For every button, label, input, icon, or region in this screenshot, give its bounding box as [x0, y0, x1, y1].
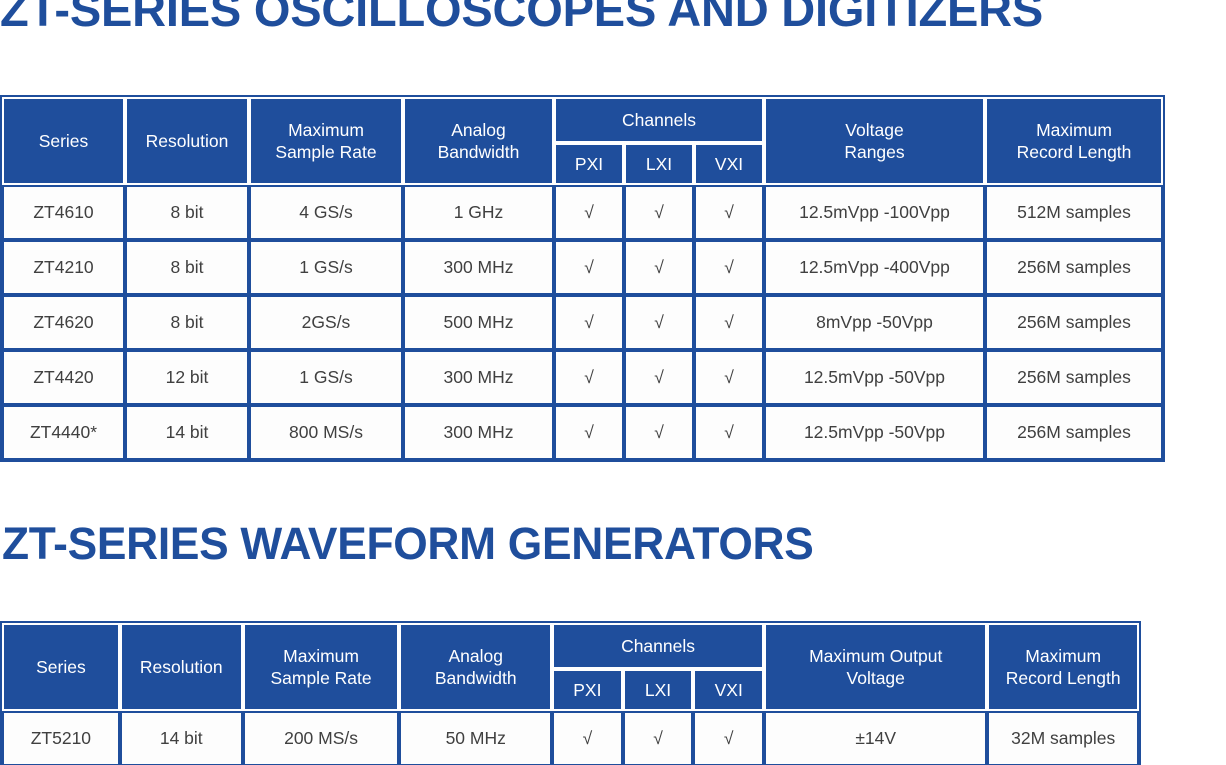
- cell-record-length: 256M samples: [985, 240, 1163, 295]
- cell-voltage-range: 12.5mVpp -400Vpp: [764, 240, 985, 295]
- cell-series: ZT4610: [2, 185, 125, 240]
- col-header-record-length: Maximum Record Length: [985, 97, 1163, 185]
- col-header-record-length: Maximum Record Length: [987, 623, 1139, 711]
- cell-sample-rate: 800 MS/s: [249, 405, 403, 460]
- col-header-sample-rate-line2: Sample Rate: [270, 668, 371, 688]
- cell-channel-lxi: √: [624, 405, 694, 460]
- cell-channel-lxi: √: [624, 295, 694, 350]
- cell-voltage-range: 12.5mVpp -50Vpp: [764, 405, 985, 460]
- cell-series: ZT4620: [2, 295, 125, 350]
- col-header-bandwidth: Analog Bandwidth: [403, 97, 554, 185]
- cell-channel-vxi: √: [694, 350, 764, 405]
- cell-series: ZT5210: [2, 711, 120, 765]
- table-body: ZT4610 8 bit 4 GS/s 1 GHz √ √ √ 12.5mVpp…: [2, 185, 1163, 460]
- col-header-channel-lxi: LXI: [623, 669, 694, 711]
- cell-channel-lxi: √: [624, 350, 694, 405]
- table-row: ZT4610 8 bit 4 GS/s 1 GHz √ √ √ 12.5mVpp…: [2, 185, 1163, 240]
- col-header-bandwidth-line1: Analog: [448, 646, 503, 666]
- cell-max-output-voltage: ±14V: [764, 711, 987, 765]
- cell-bandwidth: 300 MHz: [403, 240, 554, 295]
- col-header-voltage-ranges: Voltage Ranges: [764, 97, 985, 185]
- col-header-sample-rate: Maximum Sample Rate: [249, 97, 403, 185]
- table-row: ZT4420 12 bit 1 GS/s 300 MHz √ √ √ 12.5m…: [2, 350, 1163, 405]
- col-header-record-line1: Maximum: [1025, 646, 1101, 666]
- cell-channel-pxi: √: [554, 350, 624, 405]
- cell-voltage-range: 12.5mVpp -50Vpp: [764, 350, 985, 405]
- cell-channel-pxi: √: [554, 295, 624, 350]
- cell-resolution: 12 bit: [125, 350, 249, 405]
- cell-record-length: 512M samples: [985, 185, 1163, 240]
- cell-resolution: 8 bit: [125, 295, 249, 350]
- col-header-channel-vxi: VXI: [694, 143, 764, 185]
- waveform-generators-spec-table: Series Resolution Maximum Sample Rate An…: [0, 621, 1141, 765]
- col-header-record-line1: Maximum: [1036, 120, 1112, 140]
- cell-resolution: 14 bit: [125, 405, 249, 460]
- table-row: ZT4440* 14 bit 800 MS/s 300 MHz √ √ √ 12…: [2, 405, 1163, 460]
- col-header-channel-pxi: PXI: [552, 669, 623, 711]
- cell-sample-rate: 1 GS/s: [249, 350, 403, 405]
- cell-channel-pxi: √: [554, 185, 624, 240]
- cell-record-length: 32M samples: [987, 711, 1139, 765]
- cell-channel-lxi: √: [623, 711, 694, 765]
- col-header-sample-rate-line2: Sample Rate: [275, 142, 376, 162]
- cell-channel-vxi: √: [694, 295, 764, 350]
- cell-voltage-range: 12.5mVpp -100Vpp: [764, 185, 985, 240]
- table-body: ZT5210 14 bit 200 MS/s 50 MHz √ √ √ ±14V…: [2, 711, 1139, 765]
- cell-series: ZT4440*: [2, 405, 125, 460]
- col-header-sample-rate: Maximum Sample Rate: [243, 623, 400, 711]
- section-title-oscilloscopes: ZT-SERIES OSCILLOSCOPES AND DIGITIZERS: [0, 0, 1043, 33]
- col-header-channel-pxi: PXI: [554, 143, 624, 185]
- cell-record-length: 256M samples: [985, 405, 1163, 460]
- header-row-primary: Series Resolution Maximum Sample Rate An…: [2, 623, 1139, 669]
- col-header-series: Series: [2, 97, 125, 185]
- table-header: Series Resolution Maximum Sample Rate An…: [2, 623, 1139, 711]
- table-header: Series Resolution Maximum Sample Rate An…: [2, 97, 1163, 185]
- cell-series: ZT4420: [2, 350, 125, 405]
- header-row-primary: Series Resolution Maximum Sample Rate An…: [2, 97, 1163, 143]
- col-header-bandwidth-line1: Analog: [451, 120, 506, 140]
- cell-voltage-range: 8mVpp -50Vpp: [764, 295, 985, 350]
- cell-channel-pxi: √: [554, 405, 624, 460]
- cell-bandwidth: 300 MHz: [403, 405, 554, 460]
- cell-sample-rate: 1 GS/s: [249, 240, 403, 295]
- col-header-sample-rate-line1: Maximum: [288, 120, 364, 140]
- cell-record-length: 256M samples: [985, 350, 1163, 405]
- col-header-channel-lxi: LXI: [624, 143, 694, 185]
- cell-channel-lxi: √: [624, 240, 694, 295]
- oscilloscopes-spec-table: Series Resolution Maximum Sample Rate An…: [0, 95, 1165, 462]
- col-header-resolution: Resolution: [125, 97, 249, 185]
- col-header-max-output-voltage: Maximum Output Voltage: [764, 623, 987, 711]
- cell-channel-vxi: √: [694, 405, 764, 460]
- cell-channel-vxi: √: [693, 711, 764, 765]
- col-header-bandwidth-line2: Bandwidth: [435, 668, 517, 688]
- col-header-channel-vxi: VXI: [693, 669, 764, 711]
- cell-sample-rate: 2GS/s: [249, 295, 403, 350]
- cell-bandwidth: 1 GHz: [403, 185, 554, 240]
- col-header-voltage-line2: Ranges: [844, 142, 904, 162]
- cell-bandwidth: 50 MHz: [399, 711, 552, 765]
- cell-channel-vxi: √: [694, 240, 764, 295]
- cell-channel-vxi: √: [694, 185, 764, 240]
- cell-channel-pxi: √: [552, 711, 623, 765]
- col-header-voltage-line2: Voltage: [847, 668, 905, 688]
- cell-record-length: 256M samples: [985, 295, 1163, 350]
- col-header-channels-group: Channels: [552, 623, 764, 669]
- cell-bandwidth: 300 MHz: [403, 350, 554, 405]
- table-row: ZT4620 8 bit 2GS/s 500 MHz √ √ √ 8mVpp -…: [2, 295, 1163, 350]
- col-header-series: Series: [2, 623, 120, 711]
- table-row: ZT4210 8 bit 1 GS/s 300 MHz √ √ √ 12.5mV…: [2, 240, 1163, 295]
- cell-resolution: 8 bit: [125, 185, 249, 240]
- cell-resolution: 14 bit: [120, 711, 243, 765]
- col-header-bandwidth: Analog Bandwidth: [399, 623, 552, 711]
- col-header-channels-group: Channels: [554, 97, 764, 143]
- cell-resolution: 8 bit: [125, 240, 249, 295]
- col-header-record-line2: Record Length: [1006, 668, 1121, 688]
- col-header-resolution: Resolution: [120, 623, 243, 711]
- col-header-voltage-line1: Voltage: [845, 120, 903, 140]
- col-header-bandwidth-line2: Bandwidth: [438, 142, 520, 162]
- cell-bandwidth: 500 MHz: [403, 295, 554, 350]
- cell-sample-rate: 200 MS/s: [243, 711, 400, 765]
- col-header-sample-rate-line1: Maximum: [283, 646, 359, 666]
- table-row: ZT5210 14 bit 200 MS/s 50 MHz √ √ √ ±14V…: [2, 711, 1139, 765]
- cell-sample-rate: 4 GS/s: [249, 185, 403, 240]
- section-title-waveform-generators: ZT-SERIES WAVEFORM GENERATORS: [2, 521, 814, 566]
- cell-channel-lxi: √: [624, 185, 694, 240]
- spec-sheet-page: ZT-SERIES OSCILLOSCOPES AND DIGITIZERS S…: [0, 0, 1226, 765]
- cell-channel-pxi: √: [554, 240, 624, 295]
- cell-series: ZT4210: [2, 240, 125, 295]
- col-header-voltage-line1: Maximum Output: [809, 646, 942, 666]
- col-header-record-line2: Record Length: [1017, 142, 1132, 162]
